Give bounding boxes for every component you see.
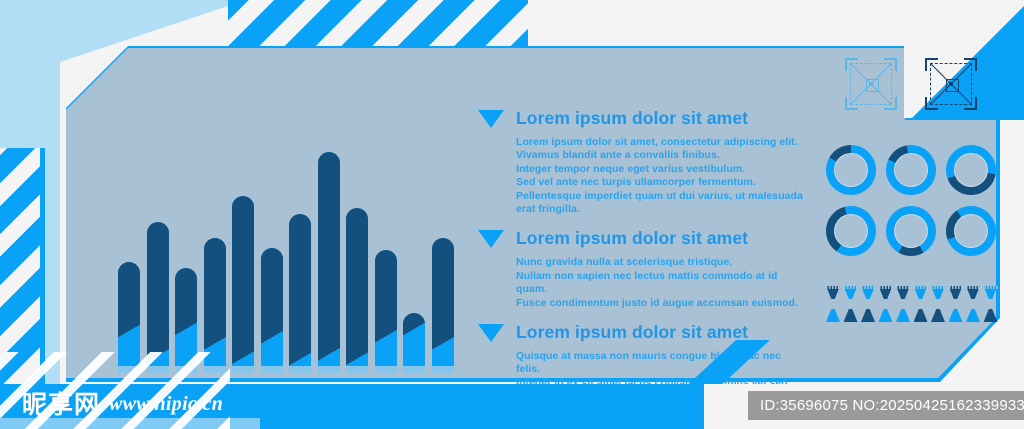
text-block-heading-row: Lorem ipsum dolor sit amet [478,322,808,343]
ring-center-hole [834,214,868,248]
hourglass-bottom [826,309,840,322]
hourglass-dot-row [966,286,980,289]
bar-chart-bar [118,262,140,366]
text-block-line: Nunc gravida nulla at scelerisque tristi… [516,256,808,269]
hourglass-indicator [826,286,840,322]
bar-chart-base-segment [318,366,340,373]
bar-chart-base-segment [403,366,425,373]
hourglass-bottom [949,309,963,322]
text-block-heading: Lorem ipsum dolor sit amet [516,228,748,249]
bar-dark-segment [204,238,226,366]
bar-chart [118,150,460,372]
bar-dark-segment [375,250,397,366]
target-reticle-light [845,58,897,110]
reticle-center-marker [866,79,879,92]
hourglass-indicator [949,286,963,322]
ring-gauge-6 [946,206,996,256]
reticle-corner-tr [884,58,897,71]
bar-chart-bar [375,250,397,366]
bar-chart-bar [289,214,311,366]
text-block: Lorem ipsum dolor sit ametLorem ipsum do… [478,108,808,216]
text-block-line: Nullam non sapien nec lectus mattis comm… [516,270,808,297]
reticle-corner-tl [925,58,938,71]
hourglass-bottom [861,309,875,322]
bar-chart-bar [346,208,368,366]
bar-chart-base-segment [346,366,368,373]
ring-gauge-1 [826,145,876,195]
bar-chart-base-segment [232,366,254,373]
text-block-line: Vivamus blandit ante a convallis finibus… [516,149,808,162]
hourglass-indicator [879,286,893,322]
text-block: Lorem ipsum dolor sit ametNunc gravida n… [478,228,808,310]
ring-gauge-5 [886,206,936,256]
bar-chart-base-segment [375,366,397,373]
ring-center-hole [894,153,928,187]
bar-chart-bar [318,152,340,366]
hourglass-dot-row [844,286,858,289]
bar-chart-base-segment [432,366,454,373]
reticle-center-marker [946,79,959,92]
ring-gauge-group [826,145,996,256]
ring-center-hole [894,214,928,248]
hourglass-indicator-group [826,286,998,322]
hourglass-dot-row [861,286,875,289]
bar-chart-bar [232,196,254,366]
ring-center-hole [834,153,868,187]
reticle-corner-tr [964,58,977,71]
bar-chart-bar [261,248,283,366]
hourglass-dot-row [984,286,998,289]
hourglass-dot-row [826,286,840,289]
hourglass-indicator [966,286,980,322]
bar-dark-segment [432,238,454,366]
hourglass-indicator [896,286,910,322]
watermark: 昵享网 www.nipic.cn [22,392,223,417]
infographic-canvas: Lorem ipsum dolor sit ametLorem ipsum do… [0,0,1024,429]
bar-dark-segment [346,208,368,366]
reticle-corner-br [964,97,977,110]
bar-dark-segment [147,222,169,366]
ring-gauge-4 [826,206,876,256]
target-reticle-dark [925,58,977,110]
hourglass-dot-row [931,286,945,289]
triangle-down-icon [478,324,504,342]
hourglass-bottom [896,309,910,322]
bar-chart-bar [403,313,425,366]
text-block-line: Lorem ipsum dolor sit amet, consectetur … [516,136,808,149]
hourglass-indicator [931,286,945,322]
bar-dark-segment [118,262,140,366]
text-block-line: Pellentesque imperdiet quam ut dui variu… [516,190,808,217]
hourglass-dot-row [879,286,893,289]
hourglass-bottom [984,309,998,322]
hourglass-bottom [914,309,928,322]
bar-chart-base-segment [261,366,283,373]
text-column: Lorem ipsum dolor sit ametLorem ipsum do… [478,108,808,416]
triangle-down-icon [478,110,504,128]
hourglass-bottom [844,309,858,322]
text-block-line: Integer tempor neque eget varius vestibu… [516,163,808,176]
hourglass-dot-row [914,286,928,289]
hourglass-indicator [861,286,875,322]
bar-chart-bar [204,238,226,366]
text-block-line: Fusce condimentum justo id augue accumsa… [516,297,808,310]
reticle-corner-br [884,97,897,110]
id-badge: ID:35696075 NO:20250425162339933100 [748,391,1024,420]
text-block-line: Quisque at massa non mauris congue bland… [516,350,808,377]
text-block-heading-row: Lorem ipsum dolor sit amet [478,228,808,249]
bar-chart-bar [147,222,169,366]
hourglass-dot-row [949,286,963,289]
text-block-heading: Lorem ipsum dolor sit amet [516,108,748,129]
reticle-group [845,58,977,110]
hourglass-indicator [914,286,928,322]
ring-center-hole [954,153,988,187]
watermark-logo: 昵享网 [22,392,100,417]
ring-gauge-3 [946,145,996,195]
reticle-corner-bl [845,97,858,110]
bar-dark-segment [289,214,311,366]
ring-gauge-2 [886,145,936,195]
hourglass-bottom [931,309,945,322]
text-block-body: Lorem ipsum dolor sit amet, consectetur … [516,136,808,216]
bar-dark-segment [261,248,283,366]
bar-dark-segment [403,313,425,366]
reticle-corner-bl [925,97,938,110]
bar-dark-segment [232,196,254,366]
text-block-heading-row: Lorem ipsum dolor sit amet [478,108,808,129]
bar-chart-base-segment [289,366,311,373]
text-block-line: Sed vel ante nec turpis ullamcorper ferm… [516,176,808,189]
triangle-down-icon [478,230,504,248]
bar-chart-bar [432,238,454,366]
hourglass-bottom [879,309,893,322]
text-block-body: Nunc gravida nulla at scelerisque tristi… [516,256,808,310]
hourglass-indicator [984,286,998,322]
ring-center-hole [954,214,988,248]
hourglass-dot-row [896,286,910,289]
watermark-url: www.nipic.cn [109,393,223,416]
text-block-heading: Lorem ipsum dolor sit amet [516,322,748,343]
hourglass-indicator [844,286,858,322]
reticle-corner-tl [845,58,858,71]
hourglass-bottom [966,309,980,322]
bar-dark-segment [318,152,340,366]
